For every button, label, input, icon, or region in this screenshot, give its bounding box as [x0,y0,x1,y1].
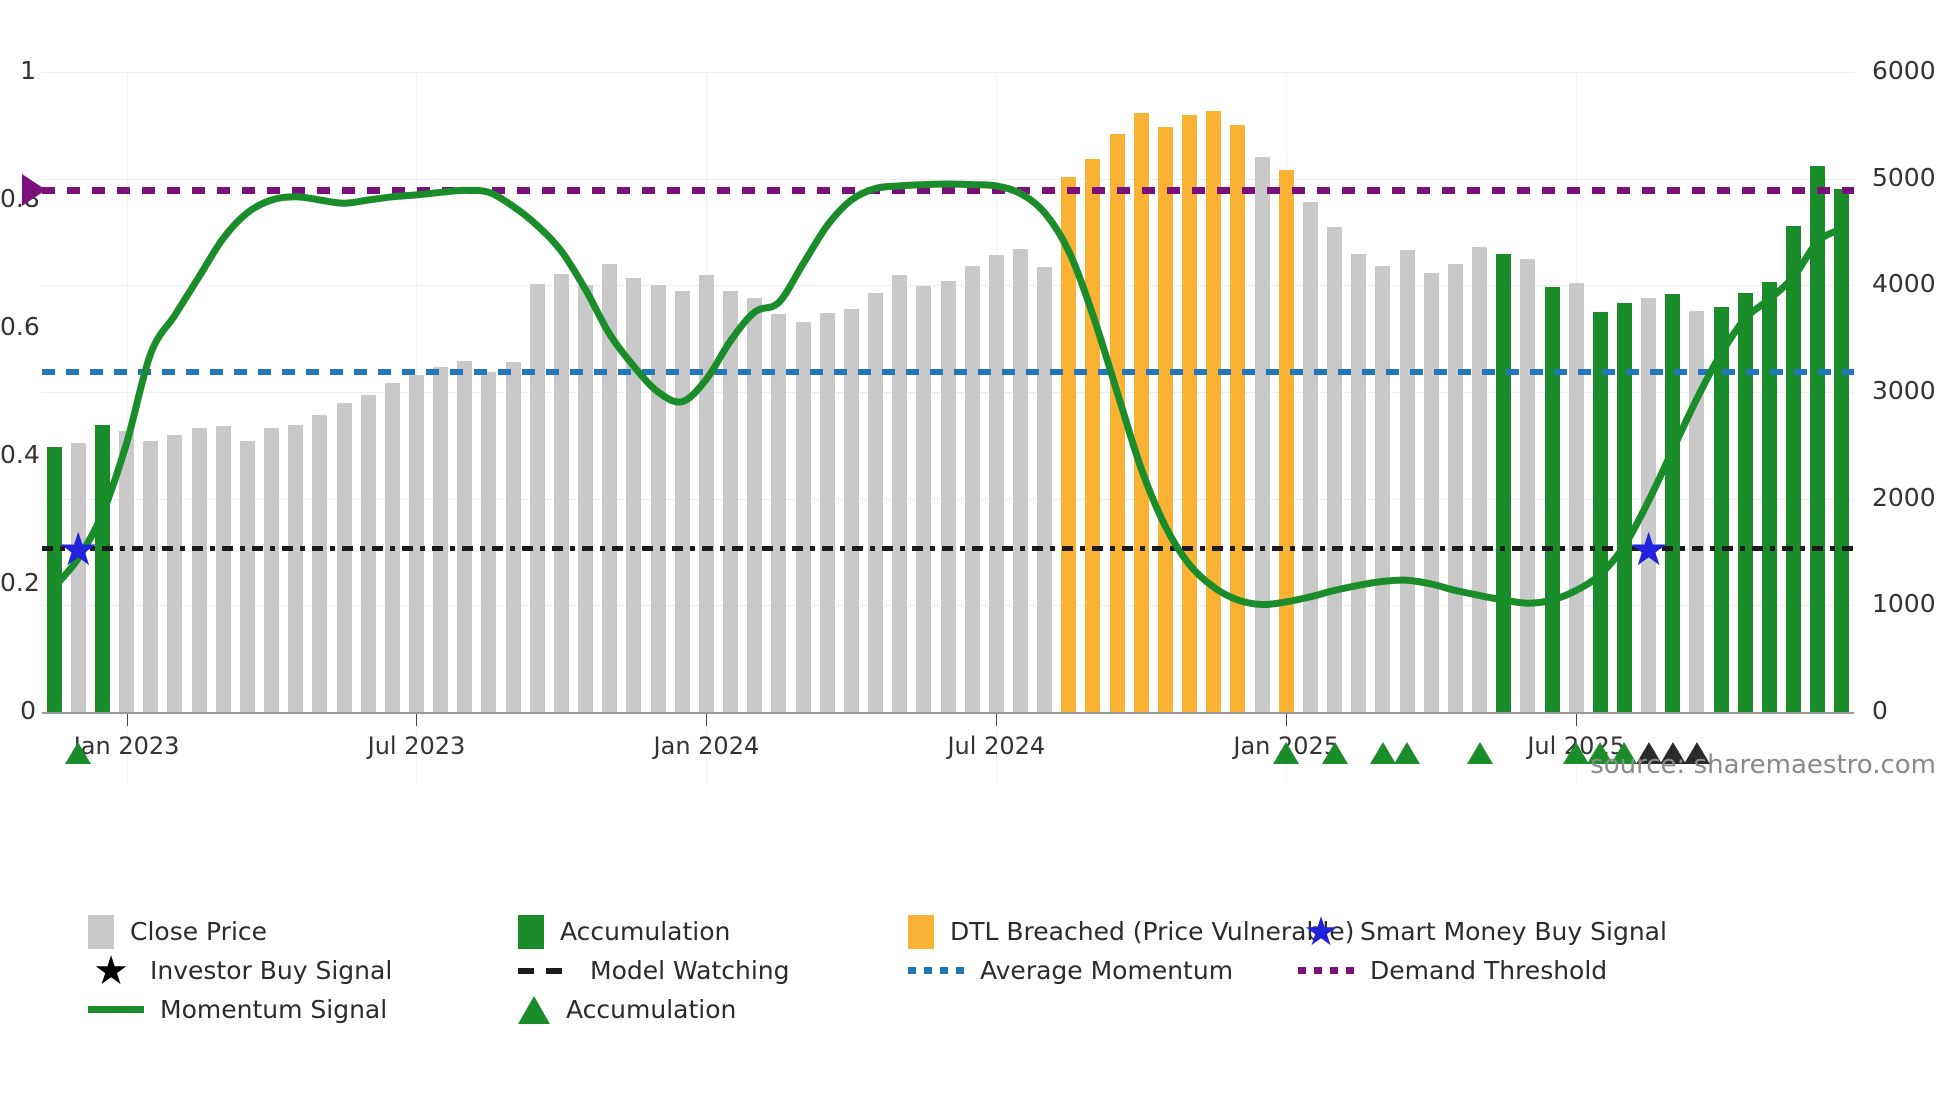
accumulation-triangle-green [1370,742,1396,764]
legend-label: Accumulation [560,917,730,946]
legend-star-icon: ★ [88,951,134,991]
accumulation-triangle-green [1467,742,1493,764]
legend-label: Smart Money Buy Signal [1360,917,1667,946]
accumulation-triangle-green [1563,742,1589,764]
legend-item-dtl-breached[interactable]: DTL Breached (Price Vulnerable) [908,915,1298,949]
legend-label: Investor Buy Signal [150,956,392,985]
y-axis-left-tick-label: 0.4 [0,440,36,469]
y-axis-right-tick-label: 2000 [1872,483,1960,512]
legend-dotted-line-icon [1298,967,1354,974]
legend-triangle-icon [518,996,550,1024]
legend-swatch-square-icon [518,915,544,949]
plot-area: ★★ [42,72,1854,712]
legend-item-close-price[interactable]: Close Price [88,915,518,949]
x-axis-tick-label: Jan 2024 [654,732,760,760]
y-axis-right-tick-label: 6000 [1872,56,1960,85]
legend-item-model-watching[interactable]: Model Watching [518,956,908,985]
legend-label: Accumulation [566,995,736,1024]
legend-swatch-square-icon [908,915,934,949]
y-axis-right-tick-label: 1000 [1872,589,1960,618]
y-axis-right-tick-label: 5000 [1872,163,1960,192]
x-axis-tick [416,714,417,726]
y-axis-left-tick-label: 0.6 [0,312,36,341]
x-axis-tick [1576,714,1577,726]
legend-item-investor-buy-signal[interactable]: ★Investor Buy Signal [88,951,518,991]
legend-dotted-line-icon [908,967,964,974]
legend-item-accumulation-marker[interactable]: Accumulation [518,995,908,1024]
chart-legend: Close PriceAccumulationDTL Breached (Pri… [88,912,1938,1029]
legend-label: Model Watching [590,956,790,985]
x-axis-tick-label: Jul 2024 [947,732,1045,760]
x-axis-tick [706,714,707,726]
accumulation-triangle-green [1322,742,1348,764]
chart-root: 00.20.40.60.81 0100020003000400050006000… [0,0,1960,1102]
y-axis-left-tick-label: 0.2 [0,568,36,597]
legend-label: Close Price [130,917,267,946]
legend-swatch-square-icon [88,915,114,949]
x-axis-tick [996,714,997,726]
smart-money-buy-signal-marker: ★ [1628,526,1669,572]
smart-money-buy-signal-marker: ★ [58,526,99,572]
legend-item-demand-threshold[interactable]: Demand Threshold [1298,956,1768,985]
legend-item-smart-money-buy-signal[interactable]: ★Smart Money Buy Signal [1298,912,1768,952]
accumulation-triangle-green [65,742,91,764]
y-axis-right-tick-label: 3000 [1872,376,1960,405]
y-axis-left-tick-label: 0 [0,696,36,725]
legend-label: DTL Breached (Price Vulnerable) [950,917,1354,946]
source-attribution: source: sharemaestro.com [1590,750,1936,780]
legend-item-average-momentum[interactable]: Average Momentum [908,956,1298,985]
accumulation-triangle-green [1394,742,1420,764]
momentum-signal-line [42,72,1854,712]
momentum-signal-path [54,184,1842,605]
x-axis-line [42,712,1854,714]
legend-label: Momentum Signal [160,995,387,1024]
legend-dashed-line-icon [518,968,574,974]
legend-label: Demand Threshold [1370,956,1607,985]
x-axis-tick-label: Jul 2023 [368,732,466,760]
legend-star-icon: ★ [1298,912,1344,952]
accumulation-triangle-green [1273,742,1299,764]
legend-item-accumulation-bar[interactable]: Accumulation [518,915,908,949]
y-axis-left-tick-label: 1 [0,56,36,85]
legend-item-momentum-signal[interactable]: Momentum Signal [88,995,518,1024]
y-axis-right-tick-label: 0 [1872,696,1960,725]
x-axis-tick [127,714,128,726]
legend-solid-line-icon [88,1006,144,1013]
legend-label: Average Momentum [980,956,1233,985]
y-axis-right-tick-label: 4000 [1872,269,1960,298]
x-axis-tick [1286,714,1287,726]
